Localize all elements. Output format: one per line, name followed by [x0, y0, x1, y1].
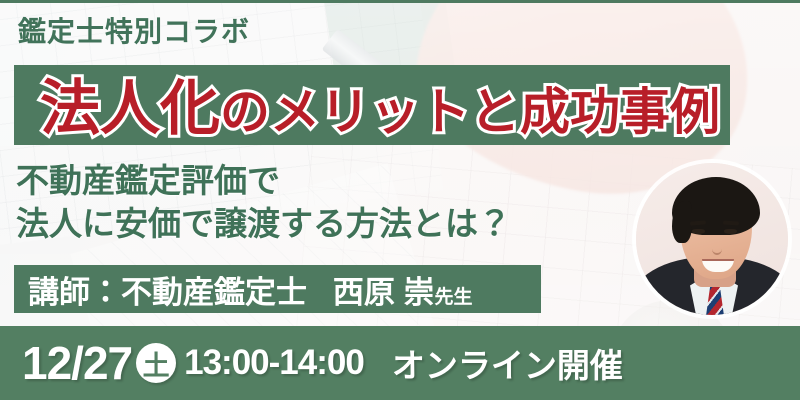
speaker-band: 講師：不動産鑑定士 西原 崇先生 [14, 265, 541, 313]
subtitle: 不動産鑑定評価で 法人に安価で譲渡する方法とは？ [16, 160, 511, 246]
event-venue: オンライン開催 [392, 339, 623, 387]
speaker-text: 講師：不動産鑑定士 西原 崇先生 [14, 267, 472, 312]
subtitle-line-2: 法人に安価で譲渡する方法とは？ [16, 203, 511, 246]
event-date: 12/27 [22, 336, 132, 390]
seminar-banner: 鑑定士特別コラボ 法人化のメリットと成功事例 不動産鑑定評価で 法人に安価で譲渡… [0, 0, 800, 400]
schedule-bar: 12/27 土 13:00-14:00 オンライン開催 [0, 326, 800, 400]
portrait-nose [712, 243, 722, 255]
day-of-week-badge: 土 [136, 343, 176, 383]
portrait-eye-right [724, 229, 737, 234]
subtitle-line-1: 不動産鑑定評価で [16, 160, 511, 203]
event-time: 13:00-14:00 [184, 343, 364, 383]
main-title: 法人化のメリットと成功事例 [40, 60, 720, 147]
speaker-honorific: 先生 [434, 287, 472, 308]
title-tail: のメリットと成功事例 [220, 84, 720, 140]
portrait-eye-left [692, 229, 705, 234]
speaker-prefix: 講師：不動産鑑定士 [28, 275, 307, 310]
kicker-text: 鑑定士特別コラボ [18, 10, 250, 50]
top-rule [0, 0, 800, 3]
speaker-name: 西原 崇 [333, 275, 435, 310]
speaker-portrait-photo [636, 163, 788, 315]
title-band: 法人化のメリットと成功事例 [14, 65, 730, 145]
title-keyword: 法人化 [40, 75, 220, 142]
